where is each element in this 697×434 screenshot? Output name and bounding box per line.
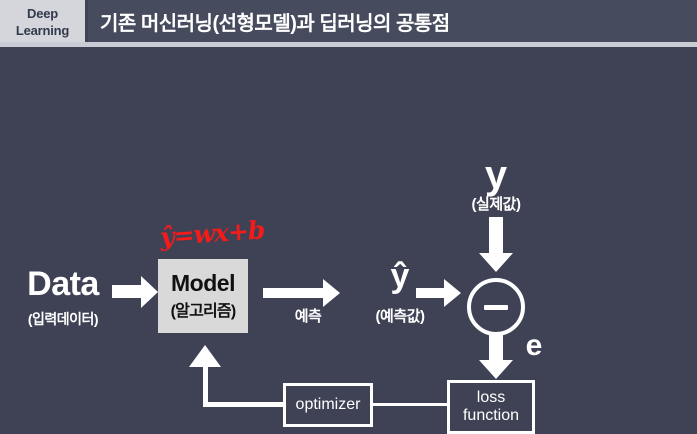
minus-icon: [484, 305, 508, 310]
model-node-subtitle: (알고리즘): [171, 297, 236, 321]
deep-learning-badge: Deep Learning: [0, 0, 85, 45]
header-title-band: 기존 머신러닝(선형모델)과 딥러닝의 공통점: [88, 0, 697, 42]
diagram-canvas: Data (입력데이터) ŷ=wx+b Model (알고리즘) 예측 ŷ (예…: [0, 47, 697, 416]
badge-label-line2: Learning: [16, 23, 69, 39]
data-node-subtitle: (입력데이터): [8, 309, 118, 329]
page-title: 기존 머신러닝(선형모델)과 딥러닝의 공통점: [100, 7, 450, 36]
badge-label-line1: Deep: [27, 6, 58, 22]
feedback-arrow-head-icon: [189, 345, 221, 367]
arrow-subtract-to-loss-head-icon: [479, 360, 513, 379]
handwritten-formula-annotation: ŷ=wx+b: [159, 215, 265, 251]
y-node-symbol: y: [466, 155, 526, 195]
arrow-data-to-model-head-icon: [141, 276, 158, 308]
model-node-box: Model (알고리즘): [158, 259, 248, 333]
arrow-yhat-to-subtract-head-icon: [444, 279, 461, 307]
arrow-model-to-yhat-shaft: [263, 288, 329, 298]
header-bar: 기존 머신러닝(선형모델)과 딥러닝의 공통점 Deep Learning: [0, 0, 697, 42]
error-arrow-label: e: [514, 331, 554, 361]
data-node-title: Data: [8, 265, 118, 304]
yhat-node-subtitle: (예측값): [360, 305, 440, 326]
subtract-node-circle: [467, 278, 525, 336]
link-loss-to-optimizer: [372, 403, 449, 406]
predict-arrow-label: 예측: [278, 305, 338, 326]
loss-node-label-line1: loss: [477, 389, 505, 406]
arrow-y-to-subtract-head-icon: [479, 253, 513, 272]
feedback-arrow-vertical-segment: [203, 364, 208, 406]
optimizer-node-label: optimizer: [296, 396, 361, 414]
loss-function-node-box: loss function: [447, 380, 535, 434]
arrow-model-to-yhat-head-icon: [323, 279, 340, 307]
optimizer-node-box: optimizer: [283, 383, 373, 427]
feedback-arrow-horizontal-segment: [203, 402, 286, 407]
y-node-subtitle: (실제값): [456, 193, 536, 214]
model-node-title: Model: [171, 271, 235, 295]
